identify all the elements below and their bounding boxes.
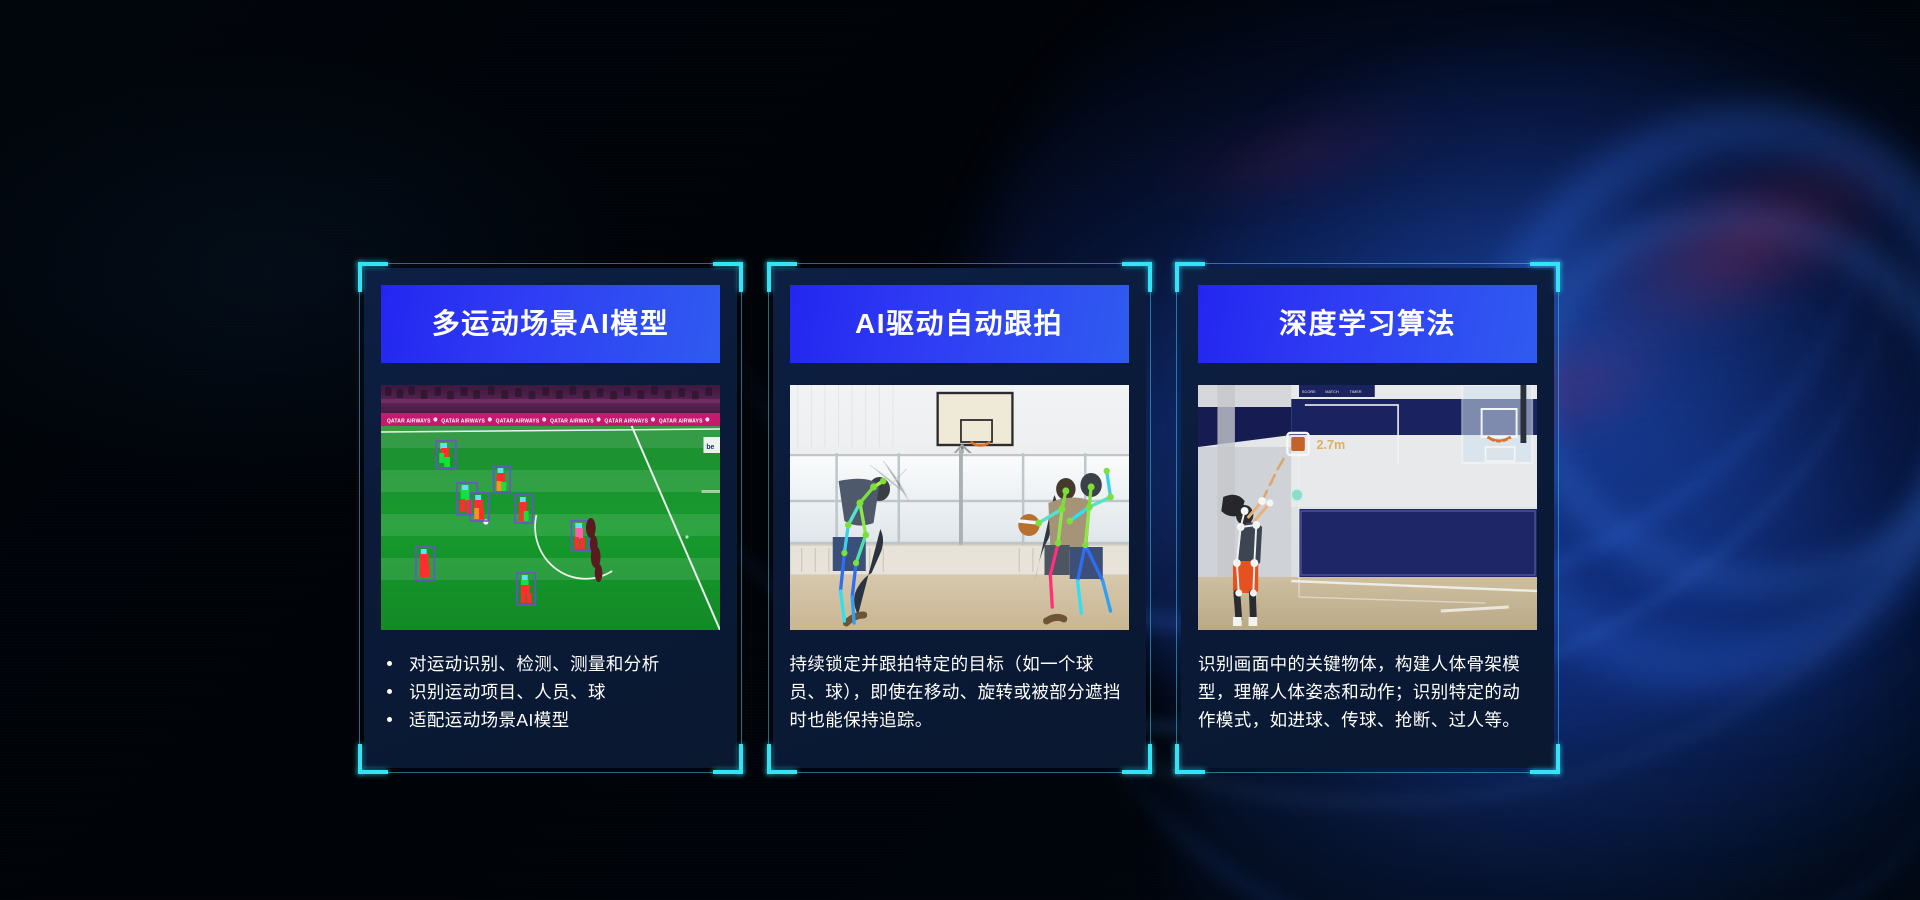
svg-text:QATAR AIRWAYS: QATAR AIRWAYS [659, 418, 703, 424]
svg-text:be: be [706, 444, 714, 451]
card-title: 深度学习算法 [1279, 310, 1456, 338]
feature-card-row: 多运动场景AI模型 [359, 263, 1559, 773]
card-body: AI驱动自动跟拍 [773, 268, 1146, 768]
list-item-label: 对运动识别、检测、测量和分析 [409, 654, 660, 674]
svg-text:SCORE: SCORE [1302, 389, 1316, 394]
card-header: AI驱动自动跟拍 [790, 285, 1129, 363]
bullet-dot-icon [387, 661, 392, 666]
card-paragraph: 识别画面中的关键物体，构建人体骨架模型，理解人体姿态和动作；识别特定的动作模式，… [1198, 650, 1538, 734]
svg-text:TIMER: TIMER [1350, 389, 1362, 394]
measurement-label: 2.7m [1317, 437, 1346, 452]
bullet-dot-icon [387, 689, 392, 694]
basketball-shot-tracking-image: SCOREMATCHTIMER [1198, 385, 1537, 630]
list-item: 识别运动项目、人员、球 [381, 678, 721, 706]
svg-text:QATAR AIRWAYS: QATAR AIRWAYS [387, 418, 431, 424]
magenta-streak-3 [1144, 75, 1457, 235]
svg-text:QATAR AIRWAYS: QATAR AIRWAYS [441, 418, 485, 424]
list-item: 适配运动场景AI模型 [381, 706, 721, 734]
soccer-pitch-detection-image: QATAR AIRWAYS QATAR AIRWAYS QATAR AIRWAY… [381, 385, 720, 630]
card-title: 多运动场景AI模型 [432, 310, 670, 338]
svg-text:QATAR AIRWAYS: QATAR AIRWAYS [496, 418, 540, 424]
svg-text:MATCH: MATCH [1325, 389, 1339, 394]
gym-basketball-pose-image [790, 385, 1129, 630]
card-bullet-list: 对运动识别、检测、测量和分析 识别运动项目、人员、球 适配运动场景AI模型 [381, 650, 721, 734]
bullet-dot-icon [387, 717, 392, 722]
card-title: AI驱动自动跟拍 [855, 310, 1063, 338]
feature-card-ai-auto-tracking[interactable]: AI驱动自动跟拍 [768, 263, 1151, 773]
feature-card-sports-ai-model[interactable]: 多运动场景AI模型 [359, 263, 742, 773]
card-paragraph: 持续锁定并跟拍特定的目标（如一个球员、球），即使在移动、旋转或被部分遮挡时也能保… [790, 650, 1130, 734]
card-header: 多运动场景AI模型 [381, 285, 720, 363]
slide-root: 多运动场景AI模型 [0, 0, 1920, 900]
card-body: 多运动场景AI模型 [364, 268, 737, 768]
svg-text:QATAR AIRWAYS: QATAR AIRWAYS [604, 418, 648, 424]
card-header: 深度学习算法 [1198, 285, 1537, 363]
list-item: 对运动识别、检测、测量和分析 [381, 650, 721, 678]
svg-text:QATAR AIRWAYS: QATAR AIRWAYS [550, 418, 594, 424]
list-item-label: 适配运动场景AI模型 [409, 710, 570, 730]
card-body: 深度学习算法 [1181, 268, 1554, 768]
magenta-streak-1 [1564, 105, 1920, 384]
feature-card-deep-learning[interactable]: 深度学习算法 [1176, 263, 1559, 773]
list-item-label: 识别运动项目、人员、球 [409, 682, 606, 702]
